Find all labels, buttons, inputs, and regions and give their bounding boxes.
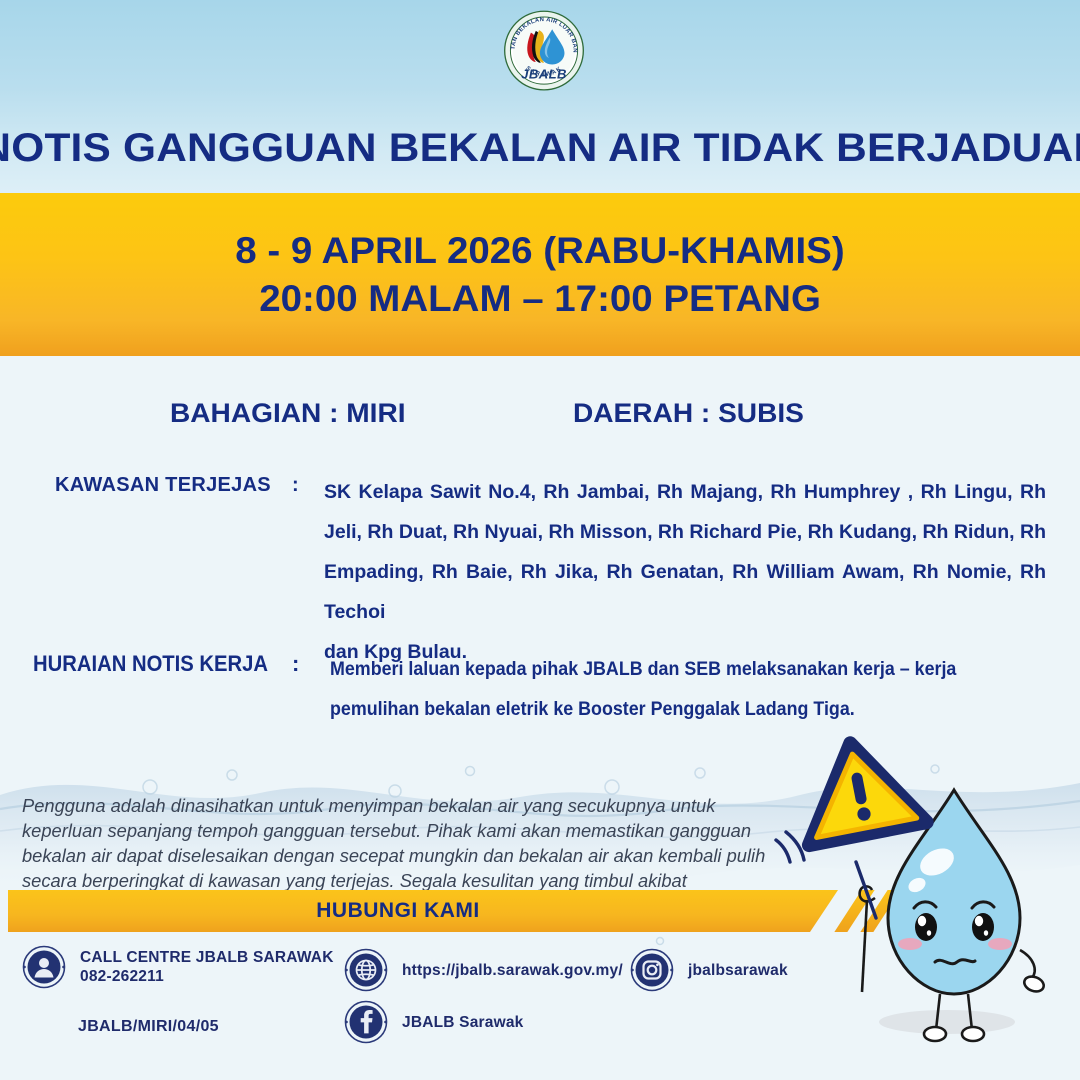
svg-text:JBALB: JBALB bbox=[521, 66, 567, 81]
website-text: https://jbalb.sarawak.gov.my/ bbox=[402, 961, 623, 980]
contact-banner-title: HUBUNGI KAMI bbox=[8, 890, 788, 932]
call-centre-title: CALL CENTRE JBALB SARAWAK bbox=[80, 948, 334, 967]
page-title: NOTIS GANGGUAN BEKALAN AIR TIDAK BERJADU… bbox=[0, 126, 1080, 171]
work-description-label: HURAIAN NOTIS KERJA bbox=[33, 651, 268, 677]
contact-website[interactable]: https://jbalb.sarawak.gov.my/ bbox=[344, 948, 623, 992]
district-label: DAERAH : SUBIS bbox=[573, 398, 804, 429]
water-disruption-notice-poster: JABATAN BEKALAN AIR LUAR BANDAR SARAWAK … bbox=[0, 0, 1080, 1080]
disruption-date: 8 - 9 APRIL 2026 (RABU-KHAMIS) bbox=[235, 227, 844, 274]
instagram-icon bbox=[630, 948, 674, 992]
facebook-icon bbox=[344, 1000, 388, 1044]
region-row: BAHAGIAN : MIRI DAERAH : SUBIS bbox=[0, 398, 1080, 442]
affected-areas-value: SK Kelapa Sawit No.4, Rh Jambai, Rh Maja… bbox=[324, 472, 1046, 672]
reference-number: JBALB/MIRI/04/05 bbox=[78, 1018, 219, 1036]
jbalb-logo: JABATAN BEKALAN AIR LUAR BANDAR SARAWAK … bbox=[503, 8, 585, 103]
disruption-time: 20:00 MALAM – 17:00 PETANG bbox=[259, 275, 821, 322]
contact-instagram[interactable]: jbalbsarawak bbox=[630, 948, 788, 992]
date-banner: 8 - 9 APRIL 2026 (RABU-KHAMIS) 20:00 MAL… bbox=[0, 193, 1080, 356]
facebook-handle: JBALB Sarawak bbox=[402, 1013, 523, 1032]
water-droplet-mascot bbox=[772, 722, 1080, 1052]
person-icon bbox=[22, 945, 66, 989]
facebook-text: JBALB Sarawak bbox=[402, 1013, 523, 1032]
affected-areas-colon: : bbox=[292, 474, 299, 497]
work-description-colon: : bbox=[292, 651, 299, 677]
division-label: BAHAGIAN : MIRI bbox=[170, 398, 406, 429]
call-centre-text: CALL CENTRE JBALB SARAWAK 082-262211 bbox=[80, 948, 334, 986]
work-description-value: Memberi laluan kepada pihak JBALB dan SE… bbox=[330, 650, 1007, 730]
poster-header: JABATAN BEKALAN AIR LUAR BANDAR SARAWAK … bbox=[0, 0, 1080, 193]
contact-call-centre[interactable]: CALL CENTRE JBALB SARAWAK 082-262211 bbox=[22, 945, 334, 989]
website-url: https://jbalb.sarawak.gov.my/ bbox=[402, 961, 623, 980]
globe-icon bbox=[344, 948, 388, 992]
affected-areas-label: KAWASAN TERJEJAS bbox=[55, 474, 271, 497]
contact-facebook[interactable]: JBALB Sarawak bbox=[344, 1000, 523, 1044]
affected-areas-text: SK Kelapa Sawit No.4, Rh Jambai, Rh Maja… bbox=[324, 481, 1046, 623]
call-centre-number: 082-262211 bbox=[80, 967, 334, 986]
